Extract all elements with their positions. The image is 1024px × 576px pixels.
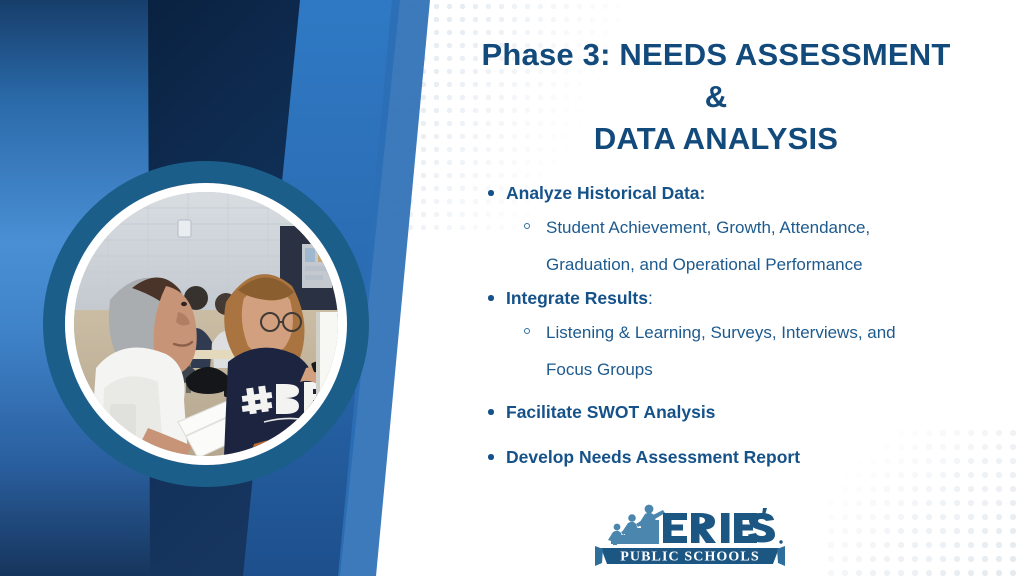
bullet-label-bold: Integrate Results	[506, 288, 648, 308]
svg-text:PUBLIC SCHOOLS: PUBLIC SCHOOLS	[620, 550, 760, 565]
page-title: Phase 3: NEEDS ASSESSMENT & DATA ANALYSI…	[416, 34, 1016, 160]
slide-content-area: Phase 3: NEEDS ASSESSMENT & DATA ANALYSI…	[408, 0, 1024, 576]
bullet-list: Analyze Historical Data: Student Achieve…	[480, 178, 1024, 473]
bullet-label-plain: :	[648, 288, 653, 308]
bullet-item-integrate-results: Integrate Results:	[480, 283, 1024, 313]
bullet-item-facilitate-swot-analysis: Facilitate SWOT Analysis	[480, 397, 1024, 427]
bullet-item-analyze-historical-data: Analyze Historical Data:	[480, 178, 1024, 208]
sub-bullet-listening-learning: Listening & Learning, Surveys, Interview…	[480, 314, 1024, 388]
title-line-1: Phase 3: NEEDS ASSESSMENT	[416, 34, 1016, 76]
sub-bullet-line-1: Listening & Learning, Surveys, Interview…	[546, 314, 1024, 351]
title-line-3: DATA ANALYSIS	[416, 118, 1016, 160]
sub-bullet-line-2: Graduation, and Operational Performance	[546, 246, 1024, 283]
sub-bullet-line-2: Focus Groups	[546, 351, 1024, 388]
bullet-label-bold: Analyze Historical Data:	[506, 183, 705, 203]
bullet-label-bold: Develop Needs Assessment Report	[506, 447, 800, 467]
photo-students-image	[74, 192, 338, 456]
sub-bullet-line-1: Student Achievement, Growth, Attendance,	[546, 209, 1024, 246]
title-line-2: &	[416, 76, 1016, 118]
bullet-label-bold: Facilitate SWOT Analysis	[506, 402, 715, 422]
slide-canvas: Phase 3: NEEDS ASSESSMENT & DATA ANALYSI…	[0, 0, 1024, 576]
eries-public-schools-logo: PUBLIC SCHOOLS	[595, 502, 785, 568]
sub-bullet-student-achievement: Student Achievement, Growth, Attendance,…	[480, 209, 1024, 283]
bullet-item-develop-needs-assessment-report: Develop Needs Assessment Report	[480, 442, 1024, 472]
